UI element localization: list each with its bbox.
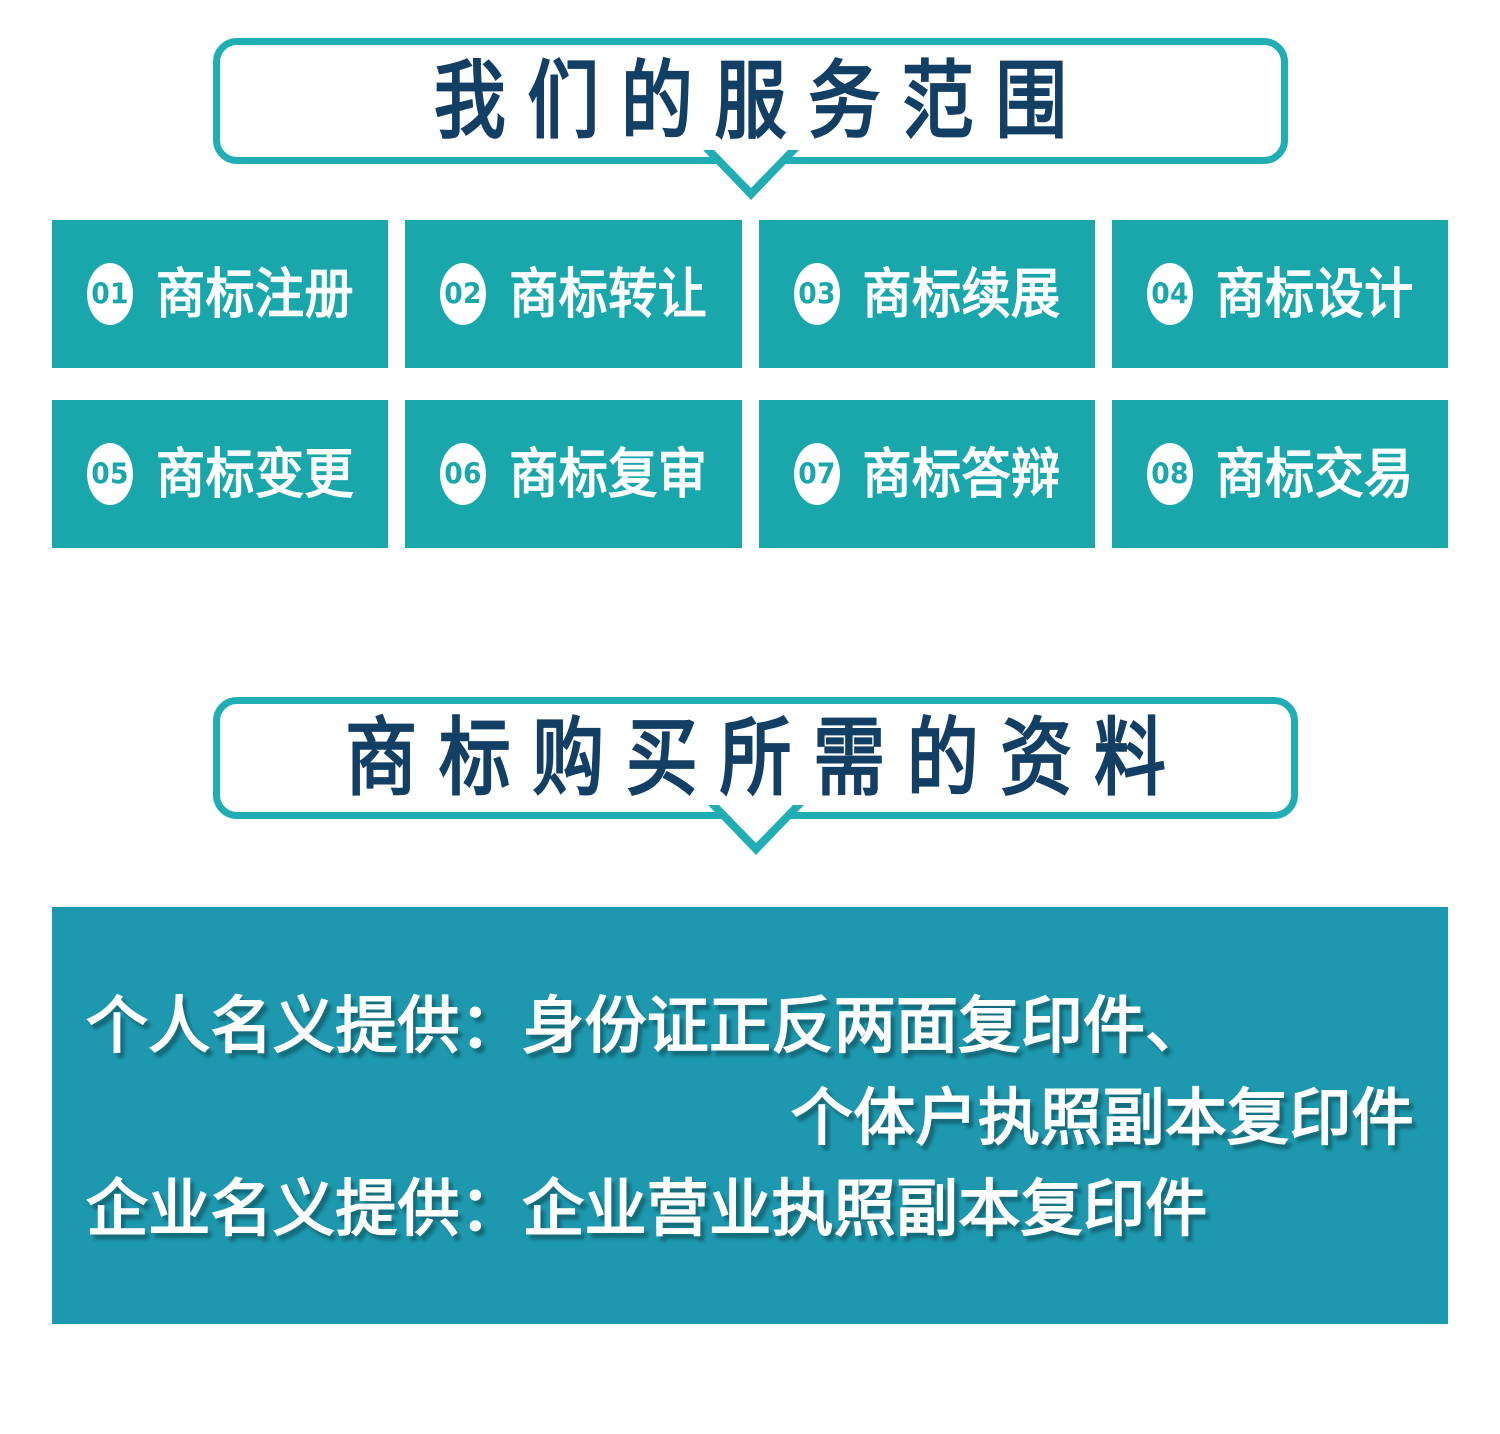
services-banner-title: 我们的服务范围 [412,59,1089,144]
service-card-number-badge: 07 [794,443,840,505]
service-card-number-badge: 08 [1147,443,1193,505]
service-card-label: 商标答辩 [863,447,1061,501]
materials-line: 企业名义提供：企业营业执照副本复印件 [86,1163,1414,1255]
materials-line: 个人名义提供：身份证正反两面复印件、 [86,980,1414,1072]
services-card-grid: 01 商标注册 02 商标转让 03 商标续展 04 商标设计 05 商标变更 … [52,220,1448,548]
service-card[interactable]: 03 商标续展 [759,220,1095,368]
materials-banner: 商标购买所需的资料 [213,697,1298,819]
service-card-number-badge: 01 [87,263,133,325]
service-card-label: 商标复审 [509,447,707,501]
service-card[interactable]: 04 商标设计 [1112,220,1448,368]
service-card[interactable]: 07 商标答辩 [759,400,1095,548]
service-card-label: 商标续展 [863,267,1061,321]
services-banner: 我们的服务范围 [213,38,1288,164]
service-card-number-badge: 04 [1147,263,1193,325]
materials-banner-title: 商标购买所需的资料 [324,716,1188,801]
service-card[interactable]: 01 商标注册 [52,220,388,368]
service-card-number-badge: 02 [440,263,486,325]
service-card[interactable]: 06 商标复审 [405,400,741,548]
service-card-number-badge: 05 [87,443,133,505]
service-card-label: 商标变更 [156,447,354,501]
service-card[interactable]: 05 商标变更 [52,400,388,548]
service-card-label: 商标设计 [1216,267,1414,321]
chevron-down-icon [708,805,804,855]
service-card[interactable]: 08 商标交易 [1112,400,1448,548]
service-card-number-badge: 03 [794,263,840,325]
service-card-label: 商标转让 [509,267,707,321]
service-card[interactable]: 02 商标转让 [405,220,741,368]
chevron-down-icon [703,150,799,200]
materials-line: 个体户执照副本复印件 [86,1072,1414,1164]
service-card-label: 商标注册 [156,267,354,321]
materials-info-panel: 个人名义提供：身份证正反两面复印件、 个体户执照副本复印件 企业名义提供：企业营… [52,907,1448,1324]
service-card-number-badge: 06 [440,443,486,505]
service-card-label: 商标交易 [1216,447,1414,501]
